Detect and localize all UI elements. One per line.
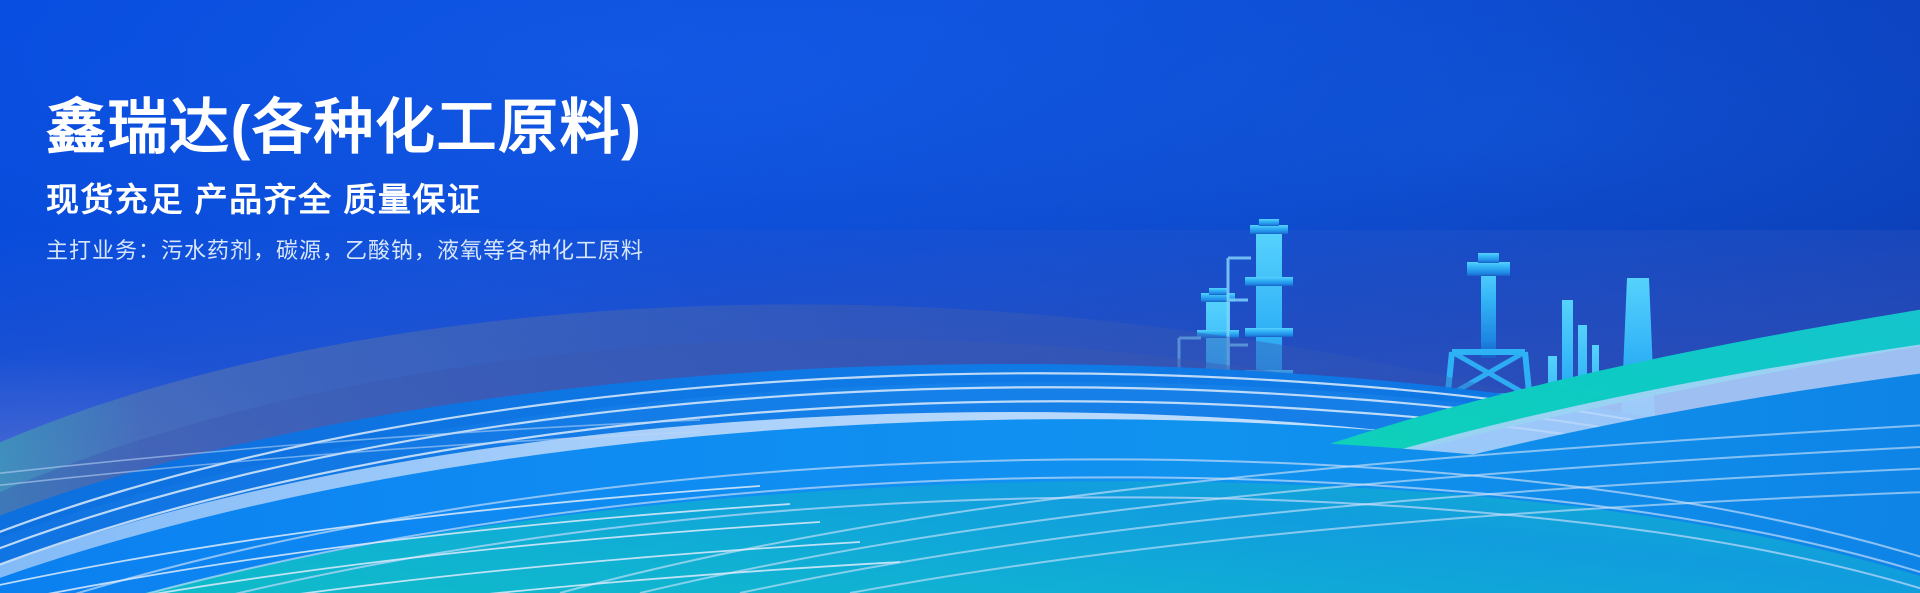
banner-text-block: 鑫瑞达(各种化工原料) 现货充足 产品齐全 质量保证 主打业务：污水药剂，碳源，… [46, 96, 1006, 264]
flowing-wave-ribbons [0, 0, 1920, 593]
page-title: 鑫瑞达(各种化工原料) [46, 96, 1006, 160]
banner-subheading: 现货充足 产品齐全 质量保证 [46, 182, 1006, 218]
promotional-banner: 鑫瑞达(各种化工原料) 现货充足 产品齐全 质量保证 主打业务：污水药剂，碳源，… [0, 0, 1920, 593]
banner-tagline: 主打业务：污水药剂，碳源，乙酸钠，液氧等各种化工原料 [46, 238, 1006, 264]
